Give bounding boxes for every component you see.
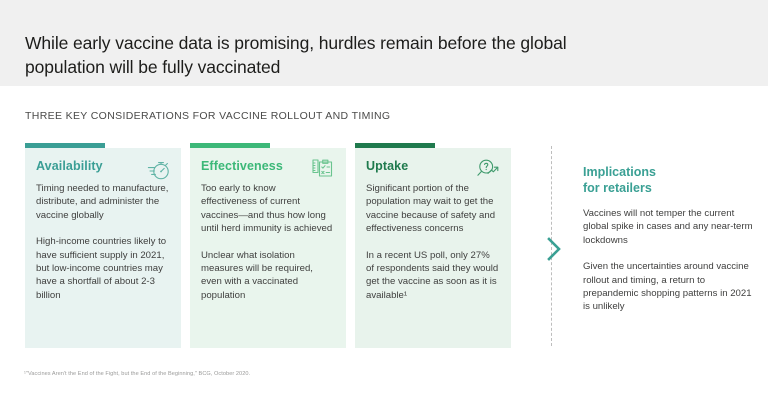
magnifier-question-trend-icon [475, 156, 501, 182]
clipboard-checklist-icon [310, 156, 336, 182]
consideration-card-uptake[interactable]: Uptake Significant portion of the popula… [355, 143, 511, 348]
stopwatch-icon [145, 156, 171, 182]
section-kicker: THREE KEY CONSIDERATIONS FOR VACCINE ROL… [25, 110, 390, 122]
card-paragraph: Too early to know effectiveness of curre… [201, 182, 334, 236]
card-body: Availability Timing needed to manufactur… [25, 148, 181, 348]
implications-title-line1: Implications [583, 165, 656, 179]
card-paragraph: Unclear what isolation measures will be … [201, 249, 334, 303]
chevron-right-icon [543, 234, 565, 264]
card-body: Effectiveness Too early to know effectiv… [190, 148, 346, 348]
implications-title-line2: for retailers [583, 181, 652, 195]
footnote: ¹"Vaccines Aren't the End of the Fight, … [24, 371, 250, 377]
implications-paragraph: Given the uncertainties around vaccine r… [583, 260, 755, 314]
card-paragraph: Significant portion of the population ma… [366, 182, 499, 236]
card-paragraph: High-income countries likely to have suf… [36, 235, 169, 302]
consideration-card-effectiveness[interactable]: Effectiveness Too early to know effectiv… [190, 143, 346, 348]
card-body: Uptake Significant portion of the popula… [355, 148, 511, 348]
implications-paragraph: Vaccines will not temper the current glo… [583, 207, 755, 247]
card-paragraph: Timing needed to manufacture, distribute… [36, 182, 169, 222]
consideration-card-availability[interactable]: Availability Timing needed to manufactur… [25, 143, 181, 348]
page-title: While early vaccine data is promising, h… [25, 31, 625, 79]
card-paragraph: In a recent US poll, only 27% of respond… [366, 249, 499, 303]
implications-panel: Implications for retailers Vaccines will… [583, 165, 755, 327]
implications-title: Implications for retailers [583, 165, 755, 196]
considerations-card-group: Availability Timing needed to manufactur… [25, 143, 530, 348]
